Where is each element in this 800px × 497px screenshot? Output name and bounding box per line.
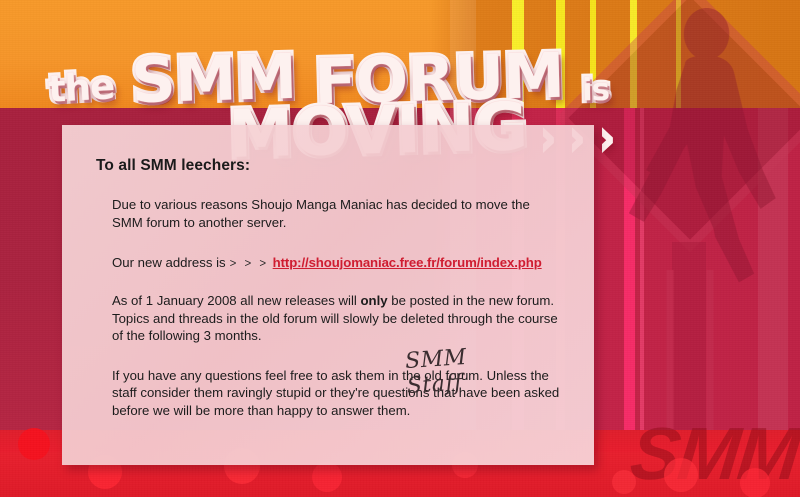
decor-dot-4 — [312, 462, 342, 492]
paragraph-release-policy-only: only — [361, 293, 388, 308]
new-forum-url-link[interactable]: http://shoujomaniac.free.fr/forum/index.… — [273, 255, 542, 270]
paragraph-reason: Due to various reasons Shoujo Manga Mani… — [112, 196, 560, 231]
panel-heading: To all SMM leechers: — [96, 157, 560, 175]
decor-dot-7 — [664, 458, 698, 492]
smm-watermark: SMM — [627, 417, 800, 491]
poster-canvas: SMM the SMM FORUM is MOVING › › › To all… — [0, 0, 800, 497]
paragraph-release-policy-a: As of 1 January 2008 all new releases wi… — [112, 293, 361, 308]
decor-dot-1 — [18, 428, 50, 460]
paragraph-questions: If you have any questions feel free to a… — [112, 367, 560, 420]
paragraph-release-policy: As of 1 January 2008 all new releases wi… — [112, 292, 560, 345]
address-line: Our new address is> > >http://shoujomani… — [112, 255, 560, 270]
pedestrian-crossing-sign — [560, 0, 800, 440]
decor-dot-9 — [612, 470, 636, 494]
address-label: Our new address is — [112, 255, 226, 270]
address-chevrons: > > > — [230, 258, 269, 270]
stripe-yellow-1 — [512, 0, 524, 108]
signature-smm-staff: SMM Staff — [405, 345, 470, 399]
announcement-panel: To all SMM leechers: Due to various reas… — [62, 125, 594, 465]
decor-dot-8 — [740, 468, 770, 497]
